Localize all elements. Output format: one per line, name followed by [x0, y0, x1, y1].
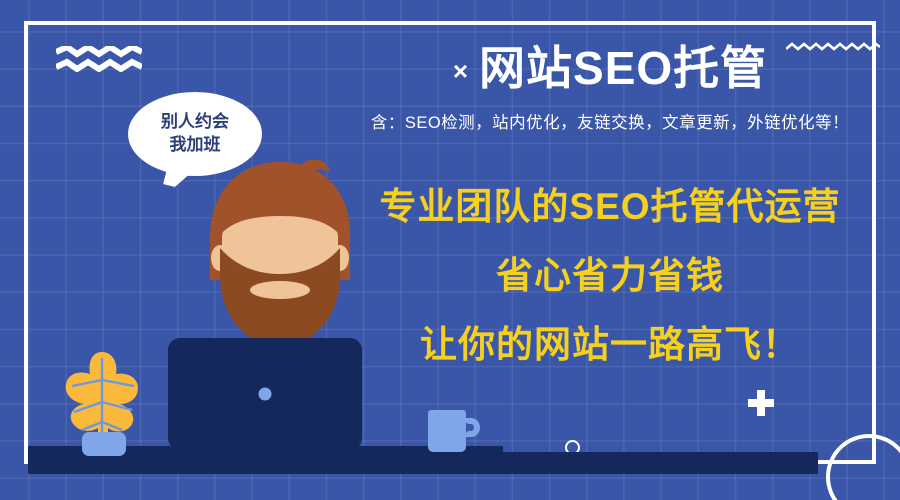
- speech-bubble-line-2: 我加班: [170, 134, 221, 157]
- seo-hosting-banner: ×网站SEO托管 含：SEO检测，站内优化，友链交换，文章更新，外链优化等！ 专…: [0, 0, 900, 500]
- potted-plant-icon: [52, 346, 156, 458]
- page-title: ×网站SEO托管: [330, 42, 890, 95]
- coffee-mug-icon: [428, 410, 466, 452]
- laptop-logo-icon: [259, 388, 272, 401]
- laptop-icon: [168, 338, 362, 450]
- page-title-text: 网站SEO托管: [479, 42, 767, 94]
- promo-line-1: 专业团队的SEO托管代运营: [330, 188, 890, 225]
- headline-block: ×网站SEO托管 含：SEO检测，站内优化，友链交换，文章更新，外链优化等！: [330, 42, 890, 133]
- x-mark-icon: ×: [453, 56, 469, 86]
- circle-outline-icon: [826, 434, 900, 500]
- promo-line-3: 让你的网站一路高飞！: [330, 326, 890, 363]
- plus-icon: [748, 390, 774, 416]
- page-subtitle: 含：SEO检测，站内优化，友链交换，文章更新，外链优化等！: [330, 109, 890, 133]
- promo-line-2: 省心省力省钱: [330, 257, 890, 294]
- speech-bubble-line-1: 别人约会: [161, 111, 229, 134]
- mug-handle: [462, 418, 480, 437]
- speech-bubble: 别人约会 我加班: [128, 92, 262, 176]
- promo-block: 专业团队的SEO托管代运营 省心省力省钱 让你的网站一路高飞！: [330, 188, 890, 363]
- wave-lines-icon: [56, 46, 142, 72]
